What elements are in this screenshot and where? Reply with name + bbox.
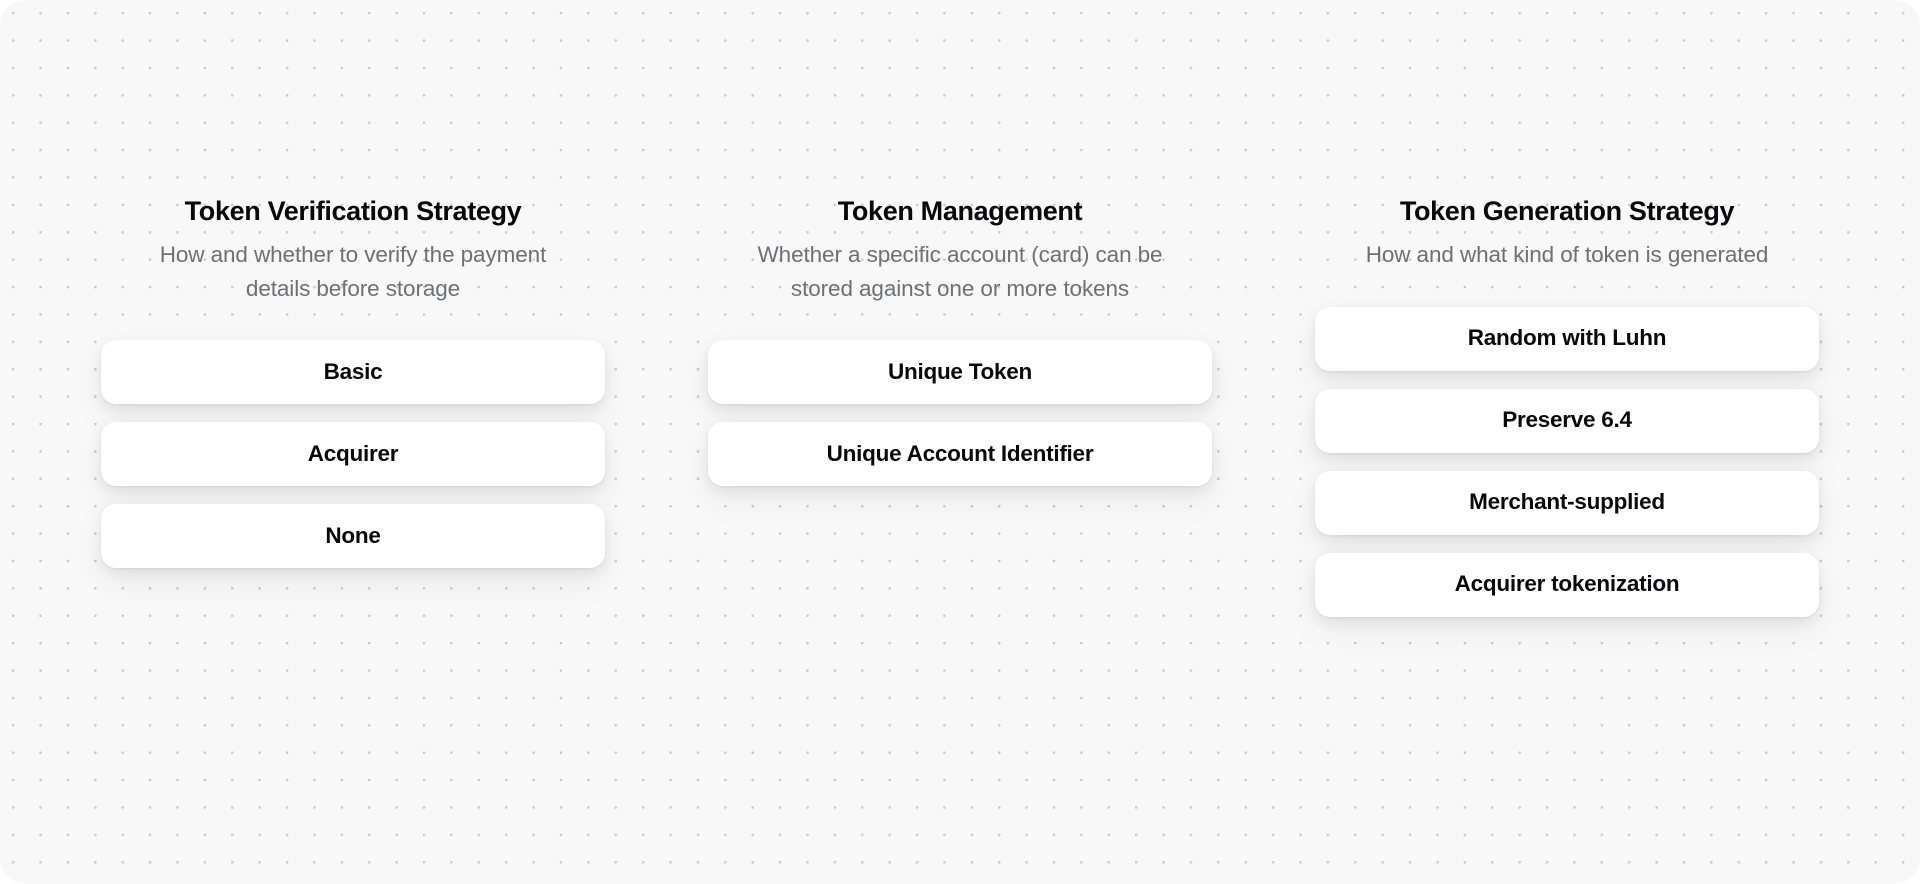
option-card[interactable]: Unique Account Identifier xyxy=(708,422,1212,486)
option-card[interactable]: Merchant-supplied xyxy=(1315,471,1819,535)
option-card[interactable]: None xyxy=(101,504,605,568)
column-title: Token Generation Strategy xyxy=(1311,195,1823,228)
option-card[interactable]: Unique Token xyxy=(708,340,1212,404)
option-label: None xyxy=(311,525,394,548)
option-card[interactable]: Preserve 6.4 xyxy=(1315,389,1819,453)
column-subtitle: Whether a specific account (card) can be… xyxy=(704,238,1216,306)
option-label: Preserve 6.4 xyxy=(1488,409,1646,432)
column-subtitle: How and whether to verify the payment de… xyxy=(97,238,609,306)
column-token-management: Token Management Whether a specific acco… xyxy=(704,195,1216,486)
option-card[interactable]: Acquirer xyxy=(101,422,605,486)
option-label: Unique Token xyxy=(874,361,1046,384)
option-label: Random with Luhn xyxy=(1454,327,1680,350)
column-title: Token Verification Strategy xyxy=(97,195,609,228)
option-label: Basic xyxy=(310,361,397,384)
column-title: Token Management xyxy=(704,195,1216,228)
option-list: Random with Luhn Preserve 6.4 Merchant-s… xyxy=(1311,307,1823,617)
column-token-verification-strategy: Token Verification Strategy How and whet… xyxy=(97,195,609,568)
columns-container: Token Verification Strategy How and whet… xyxy=(0,0,1920,884)
option-card[interactable]: Acquirer tokenization xyxy=(1315,553,1819,617)
option-label: Acquirer tokenization xyxy=(1441,573,1694,596)
option-card[interactable]: Basic xyxy=(101,340,605,404)
column-subtitle: How and what kind of token is generated xyxy=(1311,238,1823,272)
option-label: Merchant-supplied xyxy=(1455,491,1679,514)
option-label: Acquirer xyxy=(294,443,413,466)
option-list: Basic Acquirer None xyxy=(97,340,609,568)
column-token-generation-strategy: Token Generation Strategy How and what k… xyxy=(1311,195,1823,617)
option-list: Unique Token Unique Account Identifier xyxy=(704,340,1216,486)
option-label: Unique Account Identifier xyxy=(813,443,1108,466)
option-card[interactable]: Random with Luhn xyxy=(1315,307,1819,371)
diagram-canvas: Token Verification Strategy How and whet… xyxy=(0,0,1920,884)
